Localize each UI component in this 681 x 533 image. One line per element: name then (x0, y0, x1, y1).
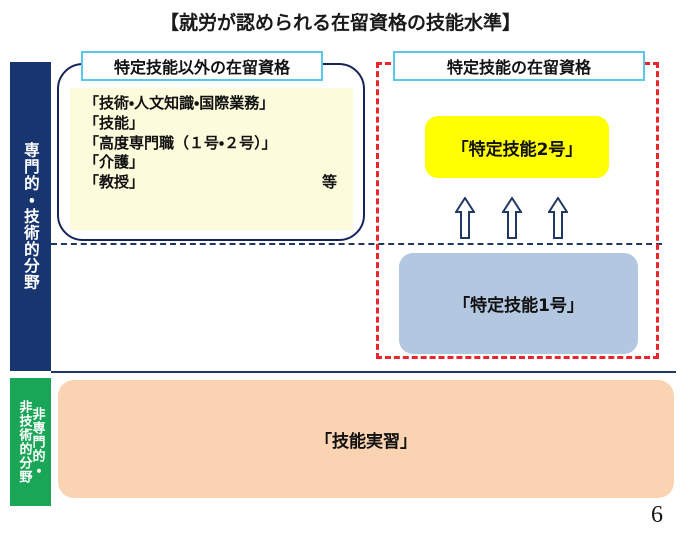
specified-skill-no1-label: 「特定技能1号」 (453, 291, 584, 316)
tier-divider-solid (51, 371, 676, 373)
technical-intern-training-label: 「技能実習」 (315, 427, 417, 452)
technical-intern-training-box: 「技能実習」 (58, 380, 674, 498)
sidebar-nonprofessional-field: 非専門的・ 非技術的分野 (10, 378, 51, 506)
sidebar-nonprofessional-label-line2: 非技術的分野 (18, 400, 31, 484)
slide-canvas: 【就労が認められる在留資格の技能水準】 専門的・技術的分野 非専門的・ 非技術的… (0, 0, 681, 533)
up-arrow-icon (455, 197, 475, 239)
list-item: 「介護」 (84, 153, 343, 173)
sidebar-professional-label: 専門的・技術的分野 (22, 142, 39, 291)
specified-skill-no2-label: 「特定技能2号」 (452, 135, 583, 160)
page-number: 6 (651, 502, 663, 529)
caption-specified-residence: 特定技能の在留資格 (393, 51, 645, 81)
list-item-last: 「教授」 等 (84, 173, 343, 193)
list-suffix-etc: 等 (322, 173, 337, 193)
up-arrow-icon (548, 197, 568, 239)
caption-specified-residence-label: 特定技能の在留資格 (447, 54, 591, 78)
caption-other-residence: 特定技能以外の在留資格 (81, 51, 323, 81)
list-item: 「高度専門職（１号・２号）」 (84, 134, 343, 154)
list-item: 「技術・人文知識・国際業務」 (84, 94, 343, 114)
caption-other-residence-label: 特定技能以外の在留資格 (114, 54, 290, 78)
other-residence-list: 「技術・人文知識・国際業務」 「技能」 「高度専門職（１号・２号）」 「介護」 … (70, 88, 353, 230)
sidebar-professional-field: 専門的・技術的分野 (10, 62, 51, 371)
specified-skill-no1-box: 「特定技能1号」 (399, 253, 638, 354)
list-item-text: 「教授」 (84, 173, 144, 191)
list-item: 「技能」 (84, 114, 343, 134)
up-arrow-icon (502, 197, 522, 239)
page-title: 【就労が認められる在留資格の技能水準】 (0, 8, 681, 35)
sidebar-nonprofessional-label-line1: 非専門的・ (31, 407, 44, 477)
specified-skill-no2-box: 「特定技能2号」 (425, 116, 609, 178)
